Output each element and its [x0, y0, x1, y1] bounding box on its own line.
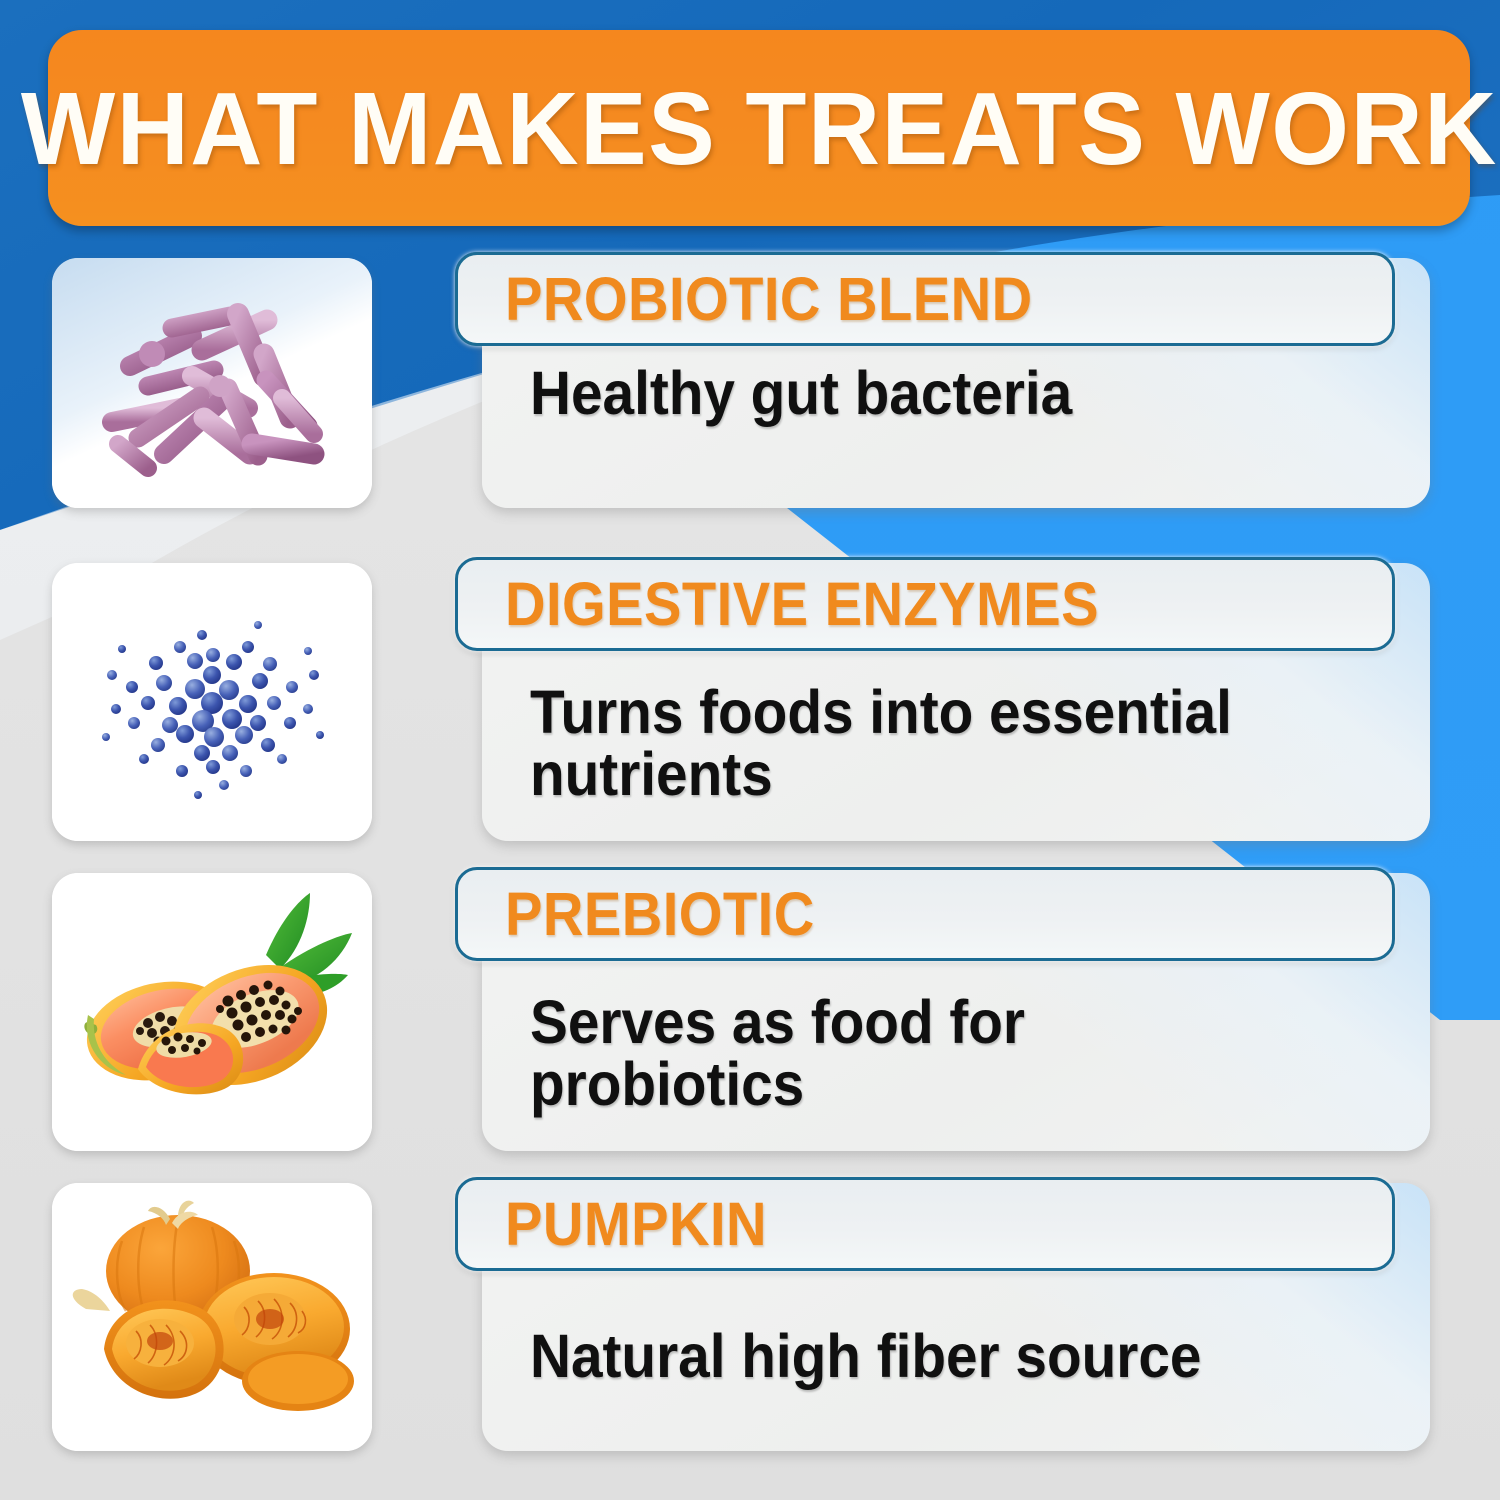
feature-card: DIGESTIVE ENZYMES Turns foods into essen… [482, 563, 1430, 841]
feature-row: DIGESTIVE ENZYMES Turns foods into essen… [0, 563, 1500, 841]
feature-description: Serves as food for probiotics [530, 991, 1332, 1115]
feature-row: PUMPKIN Natural high fiber source [0, 1183, 1500, 1451]
feature-description: Healthy gut bacteria [530, 362, 1332, 424]
feature-description: Turns foods into essential nutrients [530, 681, 1332, 805]
feature-description: Natural high fiber source [530, 1325, 1332, 1387]
feature-card: PUMPKIN Natural high fiber source [482, 1183, 1430, 1451]
probiotic-bacteria-image [52, 258, 372, 508]
feature-title-pill: PREBIOTIC [455, 867, 1395, 961]
infographic-poster: WHAT MAKES TREATS WORK [0, 0, 1500, 1500]
papaya-prebiotic-image [52, 873, 372, 1151]
pumpkin-image [52, 1183, 372, 1451]
digestive-enzymes-image [52, 563, 372, 841]
feature-title: DIGESTIVE ENZYMES [505, 574, 1099, 635]
feature-row: PROBIOTIC BLEND Healthy gut bacteria [0, 258, 1500, 508]
feature-title: PREBIOTIC [505, 884, 815, 945]
feature-title-pill: DIGESTIVE ENZYMES [455, 557, 1395, 651]
feature-title-pill: PUMPKIN [455, 1177, 1395, 1271]
feature-title: PROBIOTIC BLEND [505, 269, 1033, 330]
header-banner: WHAT MAKES TREATS WORK [48, 30, 1470, 226]
feature-title: PUMPKIN [505, 1194, 767, 1255]
feature-card: PROBIOTIC BLEND Healthy gut bacteria [482, 258, 1430, 508]
page-title: WHAT MAKES TREATS WORK [21, 77, 1498, 180]
feature-title-pill: PROBIOTIC BLEND [455, 252, 1395, 346]
feature-row: PREBIOTIC Serves as food for probiotics [0, 873, 1500, 1151]
feature-card: PREBIOTIC Serves as food for probiotics [482, 873, 1430, 1151]
